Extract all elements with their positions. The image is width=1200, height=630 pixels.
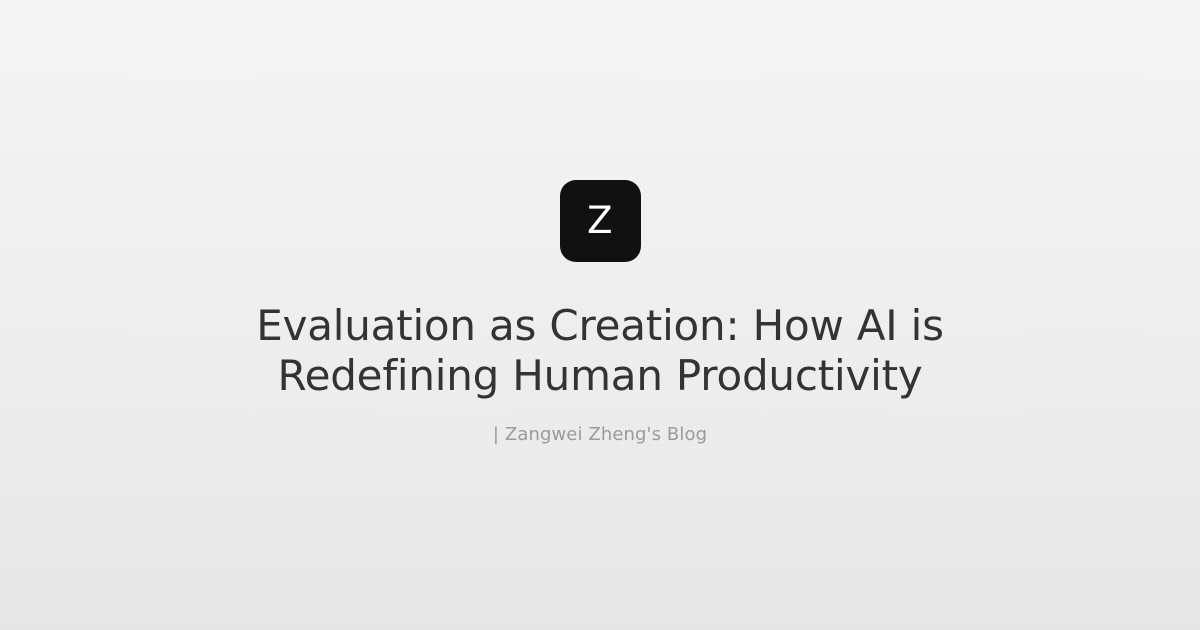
- page-title: Evaluation as Creation: How AI is Redefi…: [0, 301, 1200, 401]
- card-content: Z Evaluation as Creation: How AI is Rede…: [0, 0, 1200, 447]
- page-title-line-1: Evaluation as Creation: How AI is: [256, 301, 944, 350]
- site-logo-z-icon: Z: [587, 202, 613, 239]
- site-subtitle: | Zangwei Zheng's Blog: [0, 423, 1200, 447]
- site-logo: Z: [560, 180, 641, 262]
- page-title-line-2: Redefining Human Productivity: [277, 351, 922, 400]
- og-preview-card: Z Evaluation as Creation: How AI is Rede…: [0, 0, 1200, 630]
